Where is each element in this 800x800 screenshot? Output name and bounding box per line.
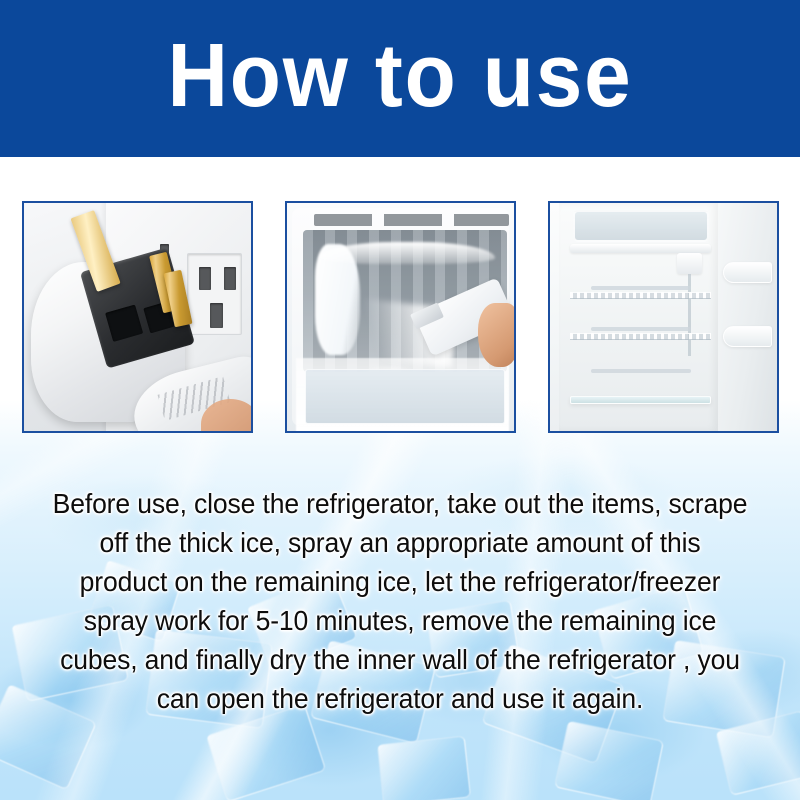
instruction-line: product on the remaining ice, let the re… — [43, 562, 757, 601]
freezer-vent-bars — [314, 214, 509, 225]
how-to-use-poster: How to use — [0, 0, 800, 800]
socket-hole-earth — [210, 303, 222, 328]
fridge-thermostat-housing — [677, 253, 702, 274]
photo-spraying-defrost-product-into-freezer — [285, 201, 516, 433]
instruction-line: cubes, and finally dry the inner wall of… — [43, 640, 757, 679]
photo-plug-unplugged-from-wall-socket — [22, 201, 253, 433]
freezer-drawer — [305, 369, 505, 424]
instruction-paragraph: Before use, close the refrigerator, take… — [43, 484, 757, 718]
photo-strip — [22, 201, 779, 433]
fridge-wire-shelf-middle — [570, 333, 711, 340]
hand-holding-bottle — [478, 303, 516, 367]
fridge-shelf-rail-lower — [591, 369, 691, 373]
fridge-door-shelf-upper — [723, 262, 773, 283]
ice-cube — [554, 721, 664, 800]
socket-hole-neutral — [224, 267, 236, 290]
ice-cube — [715, 710, 800, 796]
plug-face-slot — [105, 305, 143, 342]
fridge-shelf-rail-middle — [591, 327, 691, 331]
header-banner: How to use — [0, 0, 800, 157]
fridge-top-bin — [573, 210, 709, 242]
instruction-line: Before use, close the refrigerator, take… — [43, 484, 757, 523]
instruction-line: off the thick ice, spray an appropriate … — [43, 523, 757, 562]
fridge-light-bar — [570, 244, 711, 253]
fridge-door-shelf-lower — [723, 326, 773, 347]
photo-clean-refrigerator-interior — [548, 201, 779, 433]
instruction-line: spray work for 5-10 minutes, remove the … — [43, 601, 757, 640]
frost-buildup-top — [319, 242, 495, 265]
fridge-wire-shelf-upper — [570, 292, 711, 299]
ice-cube — [377, 736, 471, 800]
socket-hole-live — [199, 267, 211, 290]
ice-cube — [206, 704, 327, 800]
fridge-shelf-rail-upper — [591, 286, 691, 290]
page-title: How to use — [167, 31, 632, 127]
instruction-line: can open the refrigerator and use it aga… — [43, 679, 757, 718]
fridge-door — [718, 203, 777, 431]
fridge-glass-shelf — [570, 396, 711, 404]
